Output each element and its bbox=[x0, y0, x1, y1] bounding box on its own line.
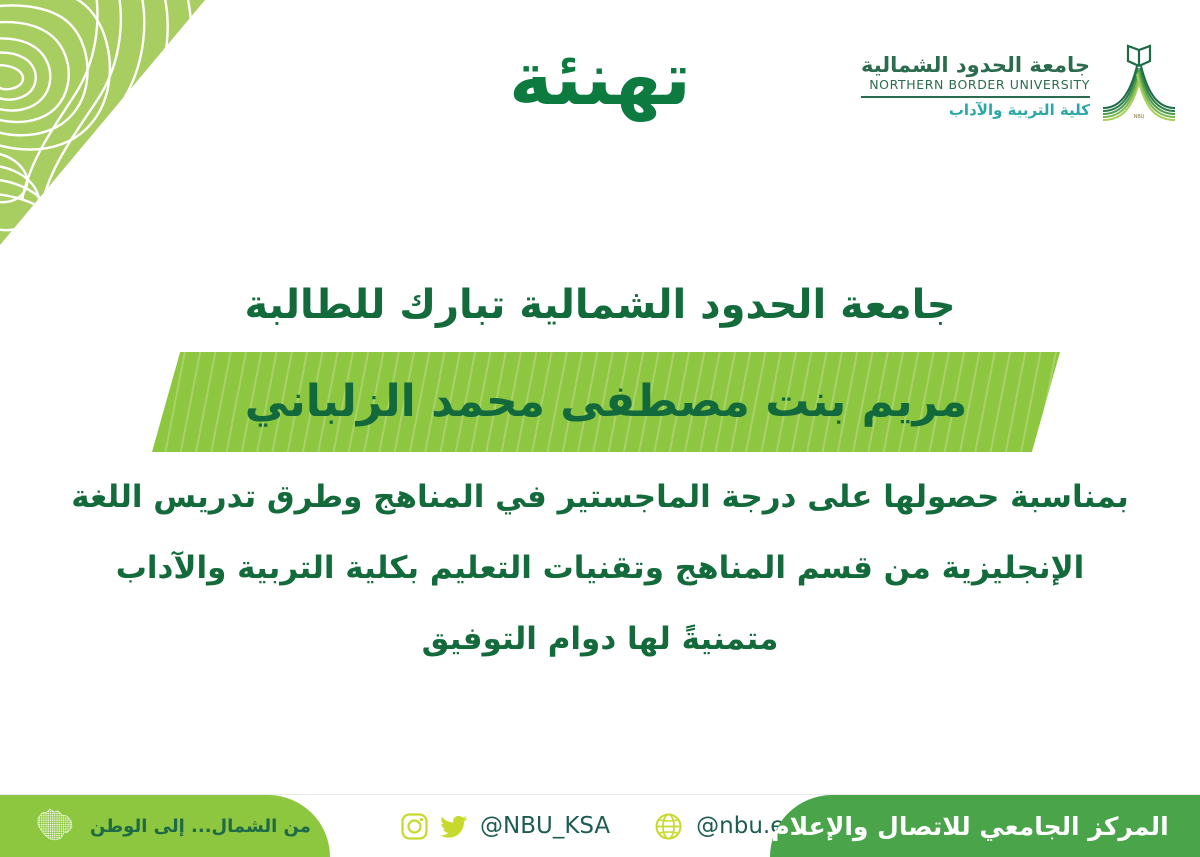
logo-college-name: كلية التربية والآداب bbox=[861, 101, 1090, 119]
footer-bar: من الشمال... إلى الوطن @NBU_KSA bbox=[0, 794, 1200, 857]
topographic-corner-decoration bbox=[0, 0, 215, 250]
logo-divider bbox=[861, 96, 1090, 98]
logo-text-block: جامعة الحدود الشمالية NORTHERN BORDER UN… bbox=[861, 44, 1090, 119]
congratulation-body: بمناسبة حصولها على درجة الماجستير في الم… bbox=[40, 482, 1160, 655]
instagram-icon[interactable] bbox=[400, 812, 429, 841]
body-line-2: الإنجليزية من قسم المناهج وتقنيات التعلي… bbox=[40, 553, 1160, 584]
page-title: جامعة الحدود الشمالية تبارك للطالبة bbox=[0, 282, 1200, 328]
saudi-map-icon bbox=[34, 806, 76, 846]
logo-university-name-ar: جامعة الحدود الشمالية bbox=[861, 54, 1090, 76]
social-handle[interactable]: @NBU_KSA bbox=[480, 813, 610, 839]
footer-slogan: من الشمال... إلى الوطن bbox=[90, 816, 311, 837]
svg-text:NBU: NBU bbox=[1134, 114, 1145, 120]
university-logo: جامعة الحدود الشمالية NORTHERN BORDER UN… bbox=[861, 44, 1178, 124]
footer-slogan-panel: من الشمال... إلى الوطن bbox=[0, 795, 330, 857]
open-book-logo-icon: NBU bbox=[1100, 44, 1178, 124]
honoree-name: مريم بنت مصطفى محمد الزلباني bbox=[245, 380, 968, 424]
globe-icon[interactable] bbox=[654, 812, 683, 841]
congratulation-poster: تهنئة جامعة الحدود الشمالية NORTHERN BOR… bbox=[0, 0, 1200, 857]
media-center-label: المركز الجامعي للاتصال والإعلام bbox=[771, 812, 1168, 841]
logo-university-name-en: NORTHERN BORDER UNIVERSITY bbox=[861, 77, 1090, 93]
honoree-name-banner: مريم بنت مصطفى محمد الزلباني bbox=[152, 352, 1060, 452]
body-line-1: بمناسبة حصولها على درجة الماجستير في الم… bbox=[40, 482, 1160, 513]
twitter-icon[interactable] bbox=[440, 812, 469, 841]
wish-line: متمنيةً لها دوام التوفيق bbox=[40, 624, 1160, 655]
media-center-panel: المركز الجامعي للاتصال والإعلام bbox=[770, 795, 1200, 857]
